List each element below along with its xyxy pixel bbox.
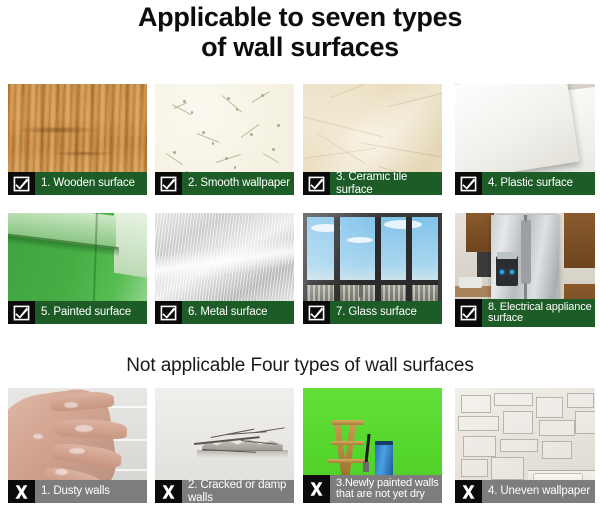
check-icon	[455, 299, 482, 327]
surface-label-text: 3. Ceramic tile surface	[330, 172, 442, 195]
surface-label-text: 8. Electrical appliance surface	[482, 299, 595, 327]
not-applicable-tile-dusty-walls: 1. Dusty walls	[8, 388, 147, 503]
surface-label-bar: 6. Metal surface	[155, 301, 294, 324]
not-applicable-tile-cracked-walls: 2. Cracked or damp walls	[155, 388, 294, 503]
not-applicable-tile-newly-painted: 3.Newly painted walls that are not yet d…	[303, 388, 442, 503]
check-icon	[155, 301, 182, 324]
surface-label-text: 7. Glass surface	[330, 301, 442, 324]
surface-tile-wooden: 1. Wooden surface	[8, 84, 147, 195]
surface-label-text: 6. Metal surface	[182, 301, 294, 324]
not-applicable-label-bar: 3.Newly painted walls that are not yet d…	[303, 475, 442, 503]
surface-label-bar: 8. Electrical appliance surface	[455, 299, 595, 327]
infographic-page: Applicable to seven types of wall surfac…	[0, 0, 600, 505]
not-applicable-label-text: 3.Newly painted walls that are not yet d…	[330, 475, 442, 503]
surface-label-bar: 2. Smooth wallpaper	[155, 172, 294, 195]
not-applicable-label-text: 2. Cracked or damp walls	[182, 480, 294, 503]
check-icon	[303, 172, 330, 195]
surface-label-text: 5. Painted surface	[35, 301, 147, 324]
surface-tile-smooth-wallpaper: 2. Smooth wallpaper	[155, 84, 294, 195]
page-title-line-1: Applicable to seven types	[138, 2, 462, 32]
not-applicable-label-text: 4. Uneven wallpaper	[482, 480, 595, 503]
not-applicable-label-bar: 1. Dusty walls	[8, 480, 147, 503]
surface-label-text: 1. Wooden surface	[35, 172, 147, 195]
surface-label-bar: 1. Wooden surface	[8, 172, 147, 195]
surface-tile-metal: 6. Metal surface	[155, 213, 294, 324]
surface-label-text: 4. Plastic surface	[482, 172, 595, 195]
not-applicable-tile-uneven-wallpaper: 4. Uneven wallpaper	[455, 388, 595, 503]
not-applicable-label-text: 1. Dusty walls	[35, 480, 147, 503]
surface-tile-painted: 5. Painted surface	[8, 213, 147, 324]
x-icon	[303, 475, 330, 503]
check-icon	[455, 172, 482, 195]
x-icon	[455, 480, 482, 503]
x-icon	[8, 480, 35, 503]
not-applicable-label-bar: 4. Uneven wallpaper	[455, 480, 595, 503]
surface-label-bar: 3. Ceramic tile surface	[303, 172, 442, 195]
surface-tile-glass: 7. Glass surface	[303, 213, 442, 324]
surface-label-bar: 7. Glass surface	[303, 301, 442, 324]
surface-label-bar: 4. Plastic surface	[455, 172, 595, 195]
surface-label-text: 2. Smooth wallpaper	[182, 172, 294, 195]
surface-label-bar: 5. Painted surface	[8, 301, 147, 324]
check-icon	[8, 172, 35, 195]
surface-tile-ceramic: 3. Ceramic tile surface	[303, 84, 442, 195]
surface-tile-electrical-appliance: 8. Electrical appliance surface	[455, 213, 595, 327]
x-icon	[155, 480, 182, 503]
page-title-line-2: of wall surfaces	[0, 32, 600, 62]
page-title: Applicable to seven types of wall surfac…	[0, 2, 600, 62]
not-applicable-label-bar: 2. Cracked or damp walls	[155, 480, 294, 503]
check-icon	[8, 301, 35, 324]
check-icon	[155, 172, 182, 195]
section-subtitle: Not applicable Four types of wall surfac…	[0, 355, 600, 377]
check-icon	[303, 301, 330, 324]
surface-tile-plastic: 4. Plastic surface	[455, 84, 595, 195]
